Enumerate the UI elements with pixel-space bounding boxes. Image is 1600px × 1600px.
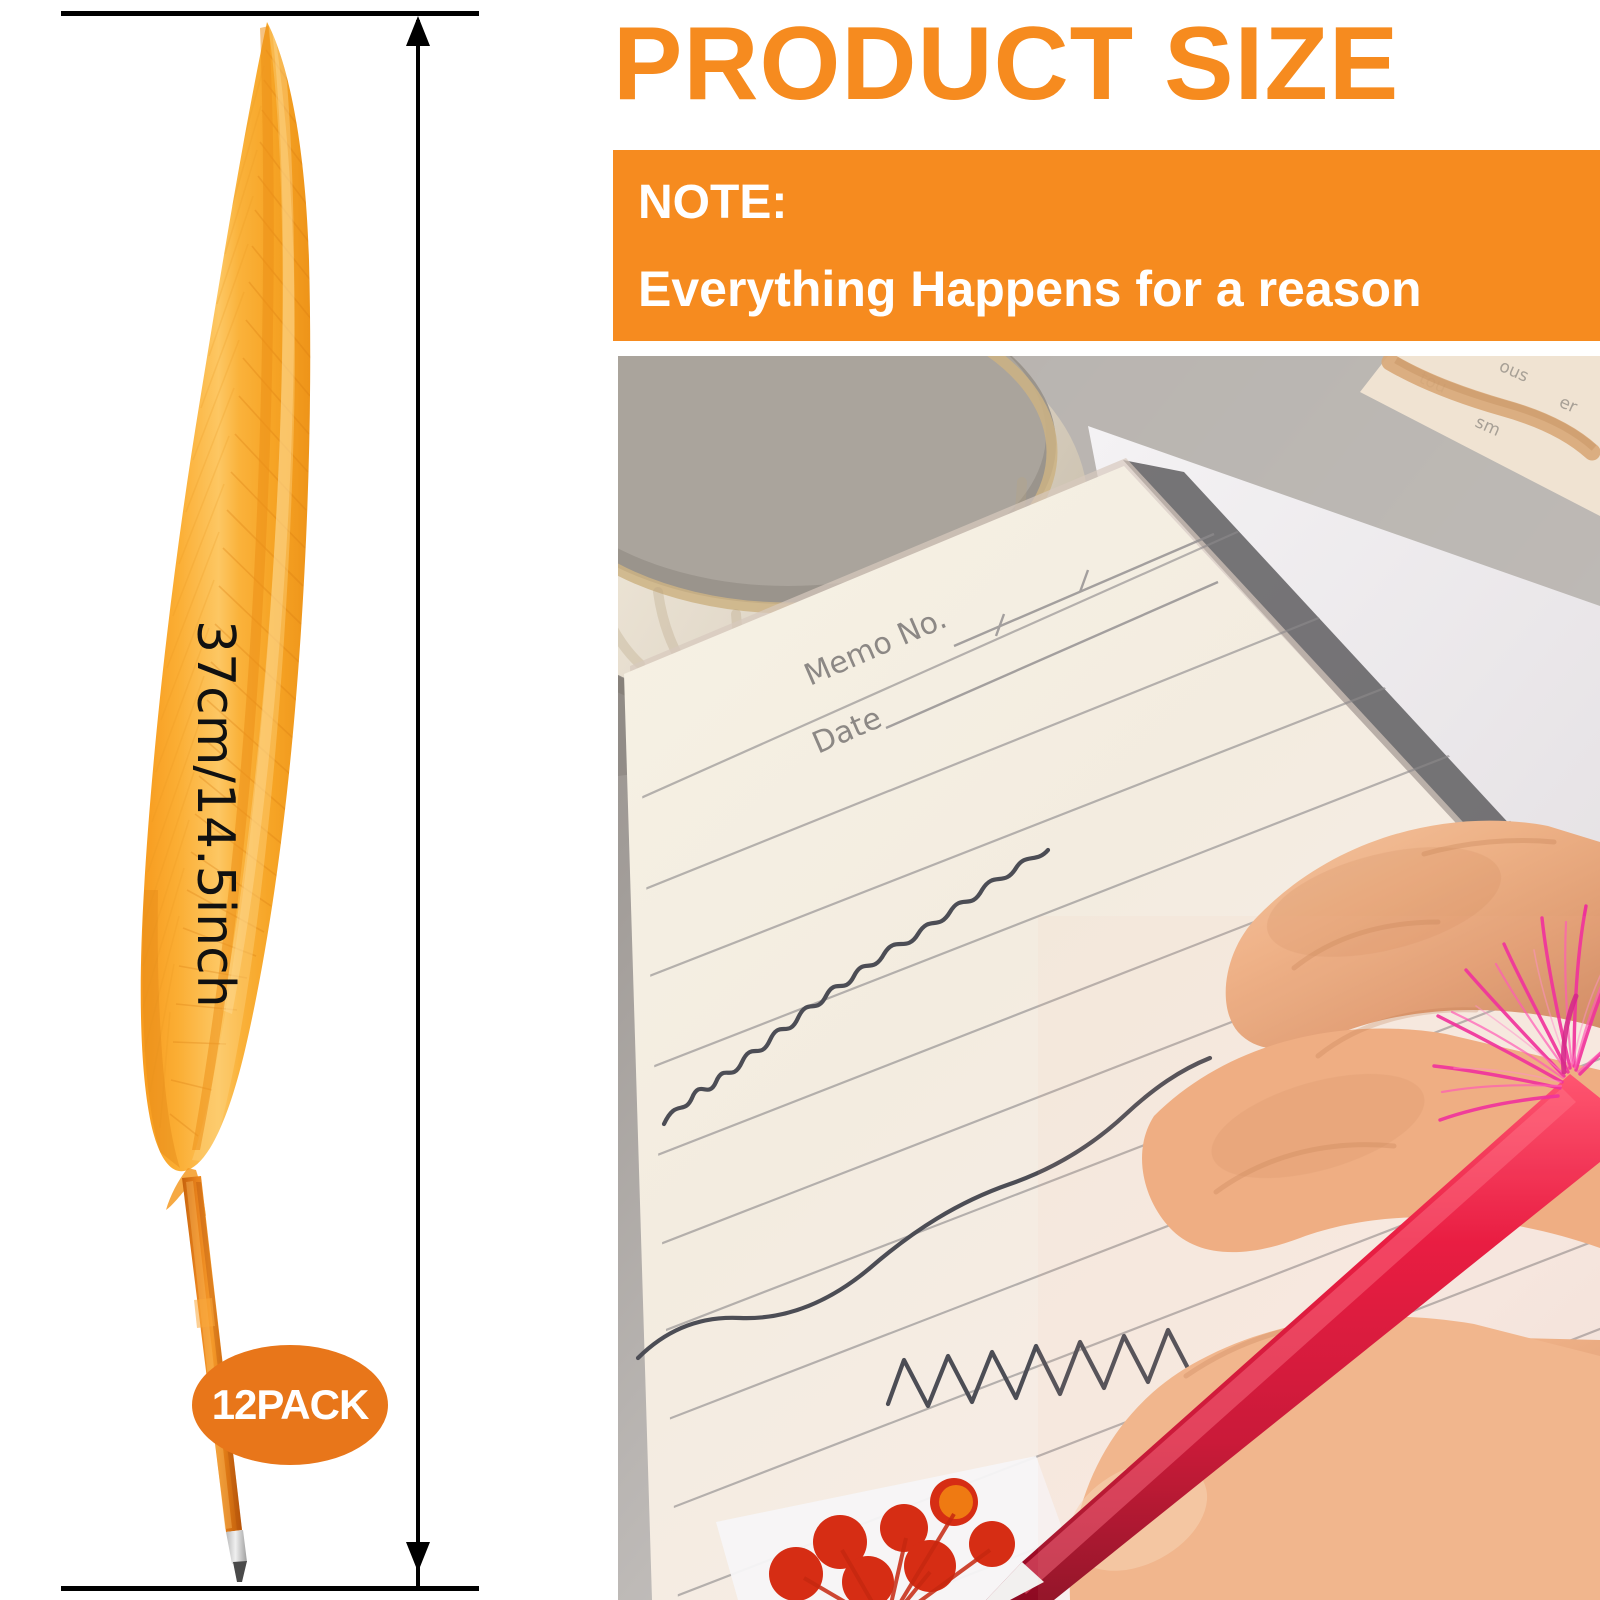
product-listing-image: 12PACK 37cm/14.5inch PRODUCT SIZE NOTE: …	[0, 0, 1600, 1600]
dimension-label: 37cm/14.5inch	[185, 620, 245, 1050]
size-diagram-panel: 12PACK 37cm/14.5inch	[0, 0, 600, 1600]
measure-rule-bottom	[61, 1586, 479, 1591]
arrow-down-icon	[406, 1542, 430, 1572]
lifestyle-photo: tou ous er sm	[618, 356, 1600, 1600]
info-panel: PRODUCT SIZE NOTE: Everything Happens fo…	[600, 0, 1600, 1600]
pen-tip-point	[233, 1561, 247, 1582]
pack-count-badge: 12PACK	[192, 1345, 388, 1465]
note-label: NOTE:	[638, 176, 787, 230]
note-text: Everything Happens for a reason	[638, 260, 1422, 318]
page-title: PRODUCT SIZE	[613, 8, 1593, 120]
note-banner: NOTE: Everything Happens for a reason	[613, 150, 1600, 341]
measure-arrow-shaft	[416, 20, 420, 1586]
arrow-up-icon	[406, 16, 430, 46]
pack-count-label: 12PACK	[212, 1381, 369, 1429]
pen-tip-ferrule	[226, 1530, 247, 1564]
